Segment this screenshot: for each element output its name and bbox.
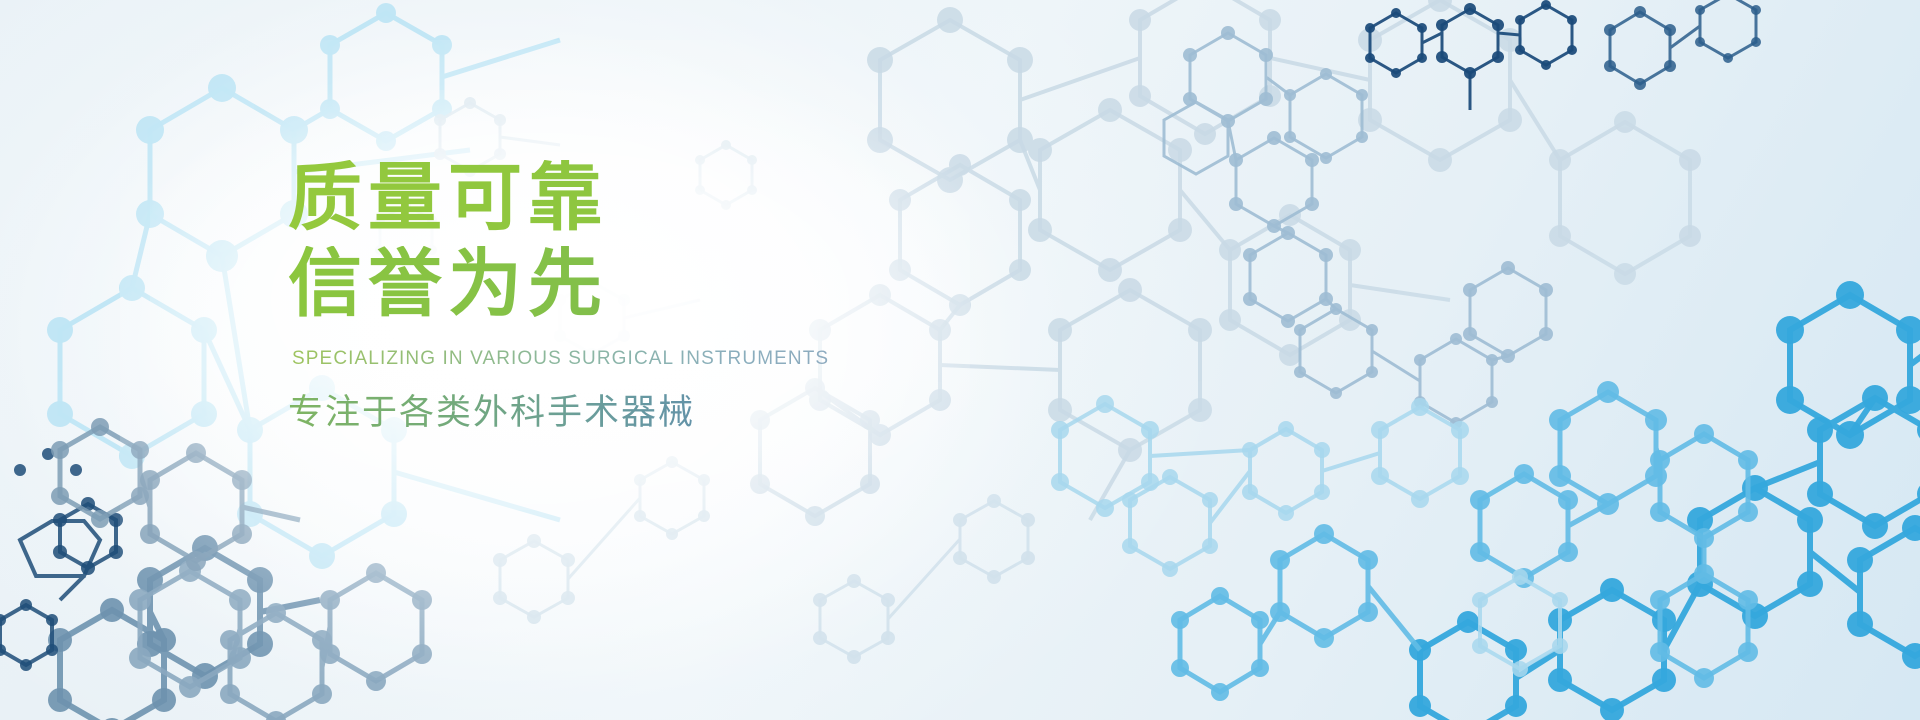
hero-banner: 质量可靠 信誉为先 SPECIALIZING IN VARIOUS SURGIC… xyxy=(0,0,1920,720)
headline-line-2: 信誉为先 xyxy=(288,246,1048,322)
hero-text-block: 质量可靠 信誉为先 SPECIALIZING IN VARIOUS SURGIC… xyxy=(288,160,1048,435)
headline-line-1: 质量可靠 xyxy=(288,160,1048,236)
subtitle-chinese: 专注于各类外科手术器械 xyxy=(288,384,1048,435)
tagline-english: SPECIALIZING IN VARIOUS SURGICAL INSTRUM… xyxy=(292,348,1048,370)
